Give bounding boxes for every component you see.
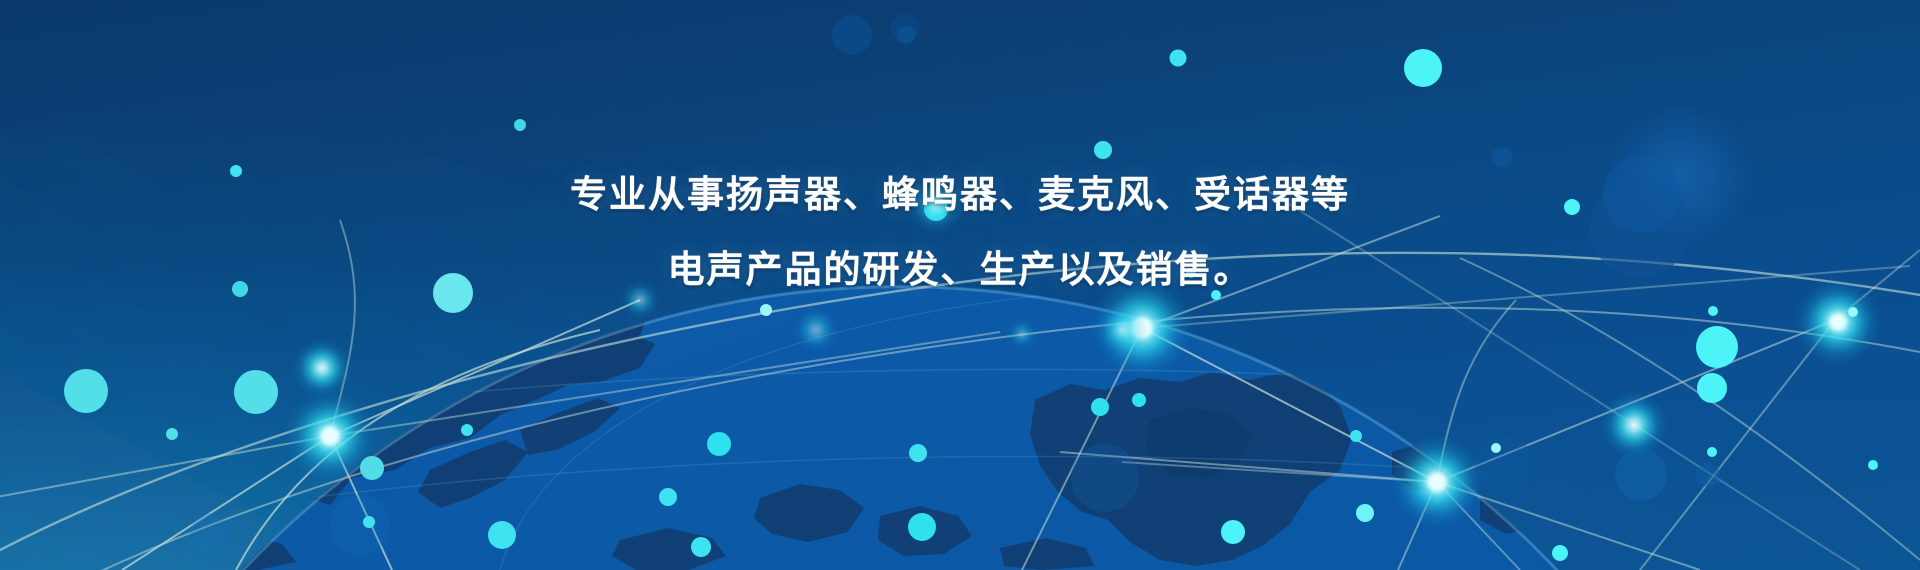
glow-node [321,427,339,445]
glow-node [1600,391,1668,459]
glow-node [620,280,660,320]
globe-network-graphic [0,0,1920,570]
glow-node [1096,304,1148,356]
glow-node [1830,314,1846,330]
glow-node [1006,318,1038,350]
glow-node [1428,473,1446,491]
hero-banner: 专业从事扬声器、蜂鸣器、麦克风、受话器等 电声产品的研发、生产以及销售。 [0,0,1920,570]
glow-node [292,338,352,398]
